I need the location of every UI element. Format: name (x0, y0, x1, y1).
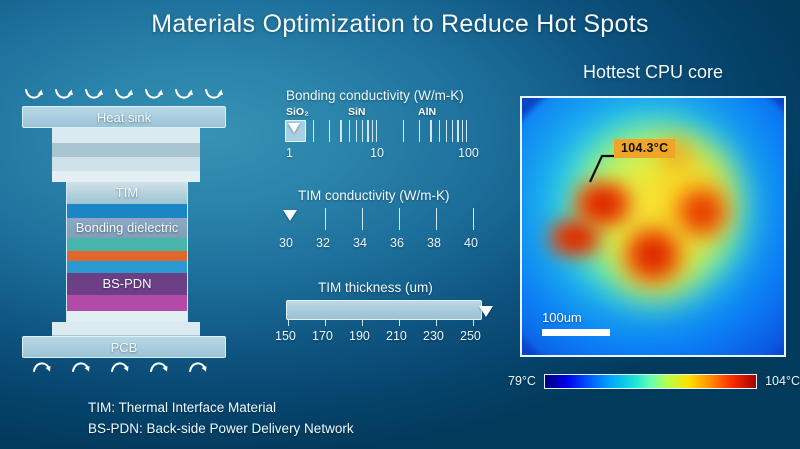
heat-sink-airflow-arrows (24, 88, 224, 104)
tim-conductivity-axis-label: 36 (390, 236, 404, 250)
bonding-axis-label-10: 10 (370, 146, 384, 160)
tim-conductivity-axis-label: 38 (427, 236, 441, 250)
layer-blue (66, 261, 188, 273)
layer-label-tim: TIM (67, 186, 187, 199)
tim-thickness-tick (325, 319, 326, 326)
bonding-conductivity-title: Bonding conductivity (W/m-K) (286, 88, 464, 103)
tim-conductivity-tick (436, 208, 437, 230)
tim-conductivity-tick (325, 208, 326, 230)
colorbar-min-label: 79°C (508, 374, 536, 388)
tim-thickness-axis-label: 230 (423, 329, 444, 343)
colorbar-max-label: 104°C (765, 374, 800, 388)
hotspot-temperature-annotation: 104.3°C (614, 139, 675, 158)
tim-thickness-axis-label: 250 (460, 329, 481, 343)
scalebar (542, 329, 610, 336)
annotation-leader-line (584, 154, 628, 198)
layer-substrate-a (52, 322, 200, 335)
tim-thickness-tick (399, 319, 400, 326)
material-label-sio2: SiO₂ (286, 106, 309, 118)
note-bspdn: BS-PDN: Back-side Power Delivery Network (88, 419, 488, 440)
layer-teal (66, 238, 188, 251)
bonding-tick (457, 120, 458, 142)
temperature-colorbar: 79°C 104°C (508, 369, 800, 393)
bonding-axis-label-1: 1 (286, 146, 293, 160)
bonding-tick (349, 120, 350, 142)
tim-thickness-track[interactable] (286, 300, 482, 320)
layer-base (66, 311, 188, 322)
legend-notes: TIM: Thermal Interface Material BS-PDN: … (88, 398, 488, 440)
slide-root: Materials Optimization to Reduce Hot Spo… (0, 0, 800, 449)
tim-thickness-axis-label: 170 (312, 329, 333, 343)
bonding-tick (313, 120, 314, 142)
bonding-tick (439, 120, 440, 142)
layer-spreader-a (52, 128, 200, 143)
tim-conductivity-title: TIM conductivity (W/m-K) (298, 188, 450, 203)
bonding-tick (340, 120, 341, 142)
bonding-tick (446, 120, 447, 142)
tim-conductivity-axis-label: 30 (279, 236, 293, 250)
bonding-tick (356, 120, 357, 142)
layer-spreader-c (52, 157, 200, 171)
tim-thickness-axis-label: 190 (349, 329, 370, 343)
tim-thickness-axis-label: 210 (386, 329, 407, 343)
materials-controls: Bonding conductivity (W/m-K) SiO₂ SiN Al… (272, 88, 497, 363)
tim-conductivity-marker[interactable] (283, 210, 297, 221)
layer-die-top (66, 204, 188, 218)
layer-label-pcb: PCB (23, 341, 225, 354)
layer-spreader-d (52, 171, 200, 182)
layer-bs-pdn: BS-PDN (66, 273, 188, 295)
tim-conductivity-axis-label: 34 (353, 236, 367, 250)
bonding-tick (466, 120, 467, 142)
tim-thickness-tick (362, 319, 363, 326)
layer-pcb: PCB (22, 336, 226, 358)
tim-conductivity-tick (473, 208, 474, 230)
layer-tim: TIM (66, 182, 188, 204)
layer-bonding-dielectric: Bonding dielectric (66, 218, 188, 238)
thermal-map-panel: Hottest CPU core 104.3°C 100um (512, 62, 794, 372)
bonding-axis-label-100: 100 (458, 146, 479, 160)
layer-magenta (66, 295, 188, 311)
bonding-tick (329, 120, 330, 142)
tim-thickness-tick (436, 319, 437, 326)
scalebar-label: 100um (542, 310, 582, 325)
bonding-tick (403, 120, 404, 142)
tim-conductivity-axis-label: 40 (464, 236, 478, 250)
thermal-map-image: 104.3°C 100um (520, 96, 786, 357)
tim-conductivity-tick (362, 208, 363, 230)
bonding-tick (372, 120, 373, 142)
layer-orange (66, 251, 188, 261)
tim-thickness-axis-label: 150 (275, 329, 296, 343)
thermal-map-title: Hottest CPU core (512, 62, 794, 83)
tim-thickness-tick (473, 319, 474, 326)
tim-thickness-title: TIM thickness (um) (318, 280, 433, 295)
material-label-aln: AlN (418, 106, 436, 118)
bonding-conductivity-marker-box[interactable] (285, 120, 306, 142)
pcb-airflow-arrows (32, 360, 208, 376)
bonding-tick (362, 120, 363, 142)
tim-thickness-tick (288, 319, 289, 326)
layer-spreader-b (52, 143, 200, 157)
tim-thickness-marker[interactable] (479, 306, 493, 317)
chip-stack-diagram: Heat sink TIM Bonding dielectric BS-PDN … (8, 88, 240, 370)
bonding-tick (452, 120, 453, 142)
bonding-tick (367, 120, 368, 142)
layer-label-bs-pdn: BS-PDN (67, 277, 187, 290)
bonding-tick (430, 120, 431, 142)
layer-label-bonding-dielectric: Bonding dielectric (67, 221, 187, 234)
bonding-tick (376, 120, 377, 142)
bonding-tick (419, 120, 420, 142)
page-title: Materials Optimization to Reduce Hot Spo… (0, 10, 800, 39)
colorbar-gradient (544, 374, 757, 389)
bonding-tick (462, 120, 463, 142)
tim-conductivity-tick (399, 208, 400, 230)
material-label-sin: SiN (348, 106, 366, 118)
note-tim: TIM: Thermal Interface Material (88, 398, 488, 419)
layer-heat-sink: Heat sink (22, 106, 226, 128)
layer-label-heat-sink: Heat sink (23, 111, 225, 124)
tim-conductivity-axis-label: 32 (316, 236, 330, 250)
